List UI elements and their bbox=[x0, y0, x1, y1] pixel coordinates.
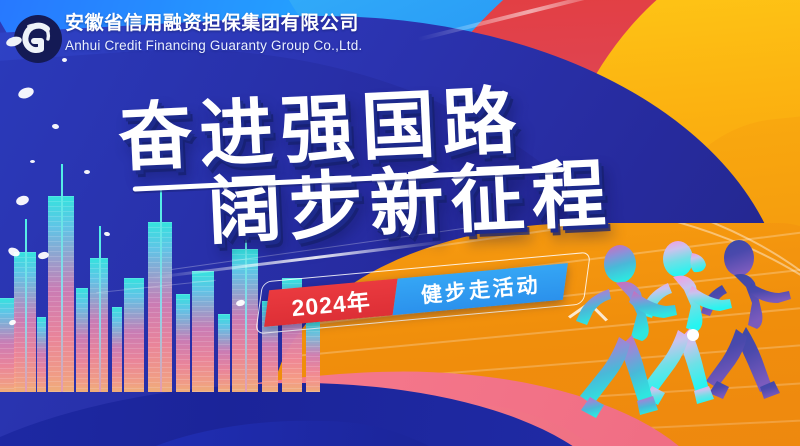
skyline-spire bbox=[25, 219, 27, 392]
logo-g-glyph bbox=[14, 15, 62, 63]
company-name-cn: 安徽省信用融资担保集团有限公司 bbox=[65, 13, 362, 35]
skyline-building bbox=[76, 288, 88, 393]
skyline-building bbox=[37, 317, 46, 392]
runners-svg bbox=[574, 231, 800, 446]
three-runners-icon bbox=[574, 231, 800, 446]
event-poster: 安徽省信用融资担保集团有限公司 Anhui Credit Financing G… bbox=[0, 0, 800, 446]
runner-highlight-dot bbox=[687, 329, 699, 341]
company-name-block: 安徽省信用融资担保集团有限公司 Anhui Credit Financing G… bbox=[65, 13, 362, 53]
skyline-building bbox=[306, 321, 320, 393]
skyline-building bbox=[112, 307, 122, 392]
sub-banner-year: 2024年 bbox=[290, 282, 372, 323]
skyline-spire bbox=[99, 226, 101, 393]
skyline-building bbox=[218, 314, 230, 392]
skyline-building bbox=[176, 294, 190, 392]
skyline-building bbox=[192, 271, 214, 392]
decor-dot bbox=[84, 170, 90, 174]
runner-right bbox=[701, 240, 791, 399]
skyline-building bbox=[124, 278, 144, 392]
skyline-spire bbox=[61, 164, 63, 393]
company-name-en: Anhui Credit Financing Guaranty Group Co… bbox=[65, 38, 362, 53]
decor-dot bbox=[30, 160, 35, 163]
headline-block: 奋进强国路 阔步新征程 bbox=[117, 81, 614, 252]
company-g-logo-icon bbox=[6, 11, 62, 67]
decor-dot bbox=[62, 58, 67, 62]
